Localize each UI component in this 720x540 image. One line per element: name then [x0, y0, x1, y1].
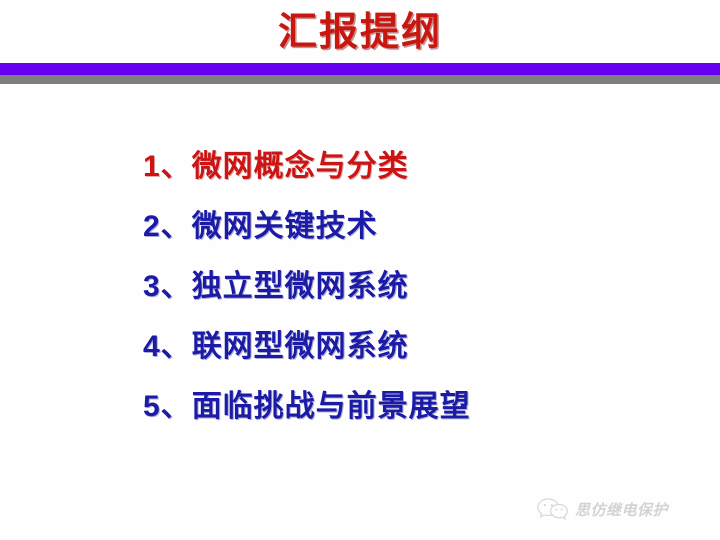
list-item-number: 2、	[143, 201, 192, 245]
list-item-label: 微网概念与分类	[192, 141, 409, 185]
list-item-label: 微网关键技术	[192, 201, 378, 245]
list-item-number: 5、	[143, 381, 192, 425]
list-item-label: 联网型微网系统	[192, 321, 409, 365]
list-item-number: 3、	[143, 261, 192, 305]
list-item-label: 面临挑战与前景展望	[192, 381, 471, 425]
wechat-icon	[536, 496, 570, 522]
outline-list: 1、 微网概念与分类 2、 微网关键技术 3、 独立型微网系统 4、 联网型微网…	[143, 133, 683, 433]
slide-title-area: 汇报提纲	[0, 8, 720, 60]
title-divider-shadow	[0, 75, 720, 84]
list-item-number: 4、	[143, 321, 192, 365]
page-title: 汇报提纲	[278, 8, 442, 58]
presentation-slide: 汇报提纲 1、 微网概念与分类 2、 微网关键技术 3、 独立型微网系统 4、 …	[0, 0, 720, 540]
list-item[interactable]: 2、 微网关键技术	[143, 193, 683, 253]
watermark-label: 思仿继电保护	[575, 499, 668, 520]
list-item-number: 1、	[143, 141, 192, 185]
list-item[interactable]: 1、 微网概念与分类	[143, 133, 683, 193]
list-item[interactable]: 4、 联网型微网系统	[143, 313, 683, 373]
list-item-label: 独立型微网系统	[192, 261, 409, 305]
title-divider-bar	[0, 63, 720, 75]
list-item[interactable]: 5、 面临挑战与前景展望	[143, 373, 683, 433]
watermark: 思仿继电保护	[536, 494, 716, 524]
list-item[interactable]: 3、 独立型微网系统	[143, 253, 683, 313]
